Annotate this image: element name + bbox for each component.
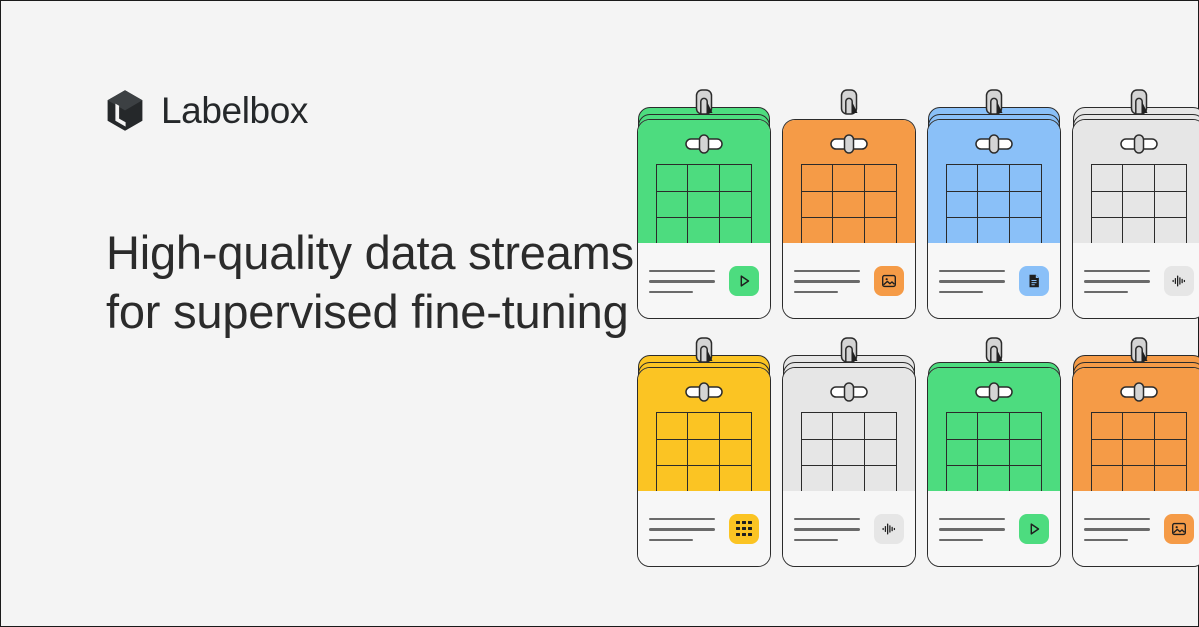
card-body xyxy=(1072,367,1199,567)
data-card-gray-audio[interactable] xyxy=(1072,89,1199,319)
card-text-lines xyxy=(1084,516,1164,541)
card-body xyxy=(927,119,1061,319)
card-slot-icon xyxy=(830,382,868,402)
data-card-grid xyxy=(637,89,1199,569)
page-canvas: Labelbox High-quality data streams for s… xyxy=(1,1,1198,626)
card-artwork xyxy=(638,368,770,491)
data-card-green-video-2[interactable] xyxy=(927,337,1061,567)
card-artwork xyxy=(928,368,1060,491)
card-text-lines xyxy=(794,516,874,541)
card-slot-icon xyxy=(975,134,1013,154)
card-slot-icon xyxy=(1120,382,1158,402)
card-grid-overlay xyxy=(801,412,897,494)
card-artwork xyxy=(1073,368,1199,491)
card-grid-overlay xyxy=(1091,412,1187,494)
card-clip-icon xyxy=(691,89,717,125)
dot-grid-icon[interactable] xyxy=(729,514,759,544)
data-card-orange-image-2[interactable] xyxy=(1072,337,1199,567)
card-body xyxy=(637,119,771,319)
card-clip-icon xyxy=(691,337,717,373)
card-text-lines xyxy=(939,268,1019,293)
card-artwork xyxy=(783,368,915,491)
card-slot-icon xyxy=(830,134,868,154)
card-clip-icon xyxy=(836,337,862,373)
card-clip-icon xyxy=(1126,337,1152,373)
card-body xyxy=(782,119,916,319)
brand-lockup: Labelbox xyxy=(106,89,308,132)
data-card-blue-document[interactable] xyxy=(927,89,1061,319)
card-artwork xyxy=(638,120,770,243)
card-body xyxy=(1072,119,1199,319)
page-title: High-quality data streams for supervised… xyxy=(106,223,666,341)
card-grid-overlay xyxy=(946,164,1042,246)
card-text-lines xyxy=(649,268,729,293)
card-body xyxy=(637,367,771,567)
play-icon[interactable] xyxy=(729,266,759,296)
card-text-lines xyxy=(939,516,1019,541)
card-artwork xyxy=(928,120,1060,243)
image-icon[interactable] xyxy=(874,266,904,296)
audio-waveform-icon[interactable] xyxy=(1164,266,1194,296)
data-card-yellow-dotgrid[interactable] xyxy=(637,337,771,567)
document-icon[interactable] xyxy=(1019,266,1049,296)
card-clip-icon xyxy=(981,89,1007,125)
card-meta xyxy=(1073,491,1199,566)
data-card-orange-image[interactable] xyxy=(782,89,916,319)
card-clip-icon xyxy=(1126,89,1152,125)
card-meta xyxy=(1073,243,1199,318)
labelbox-cube-icon xyxy=(106,89,144,132)
card-meta xyxy=(928,491,1060,566)
card-artwork xyxy=(1073,120,1199,243)
card-meta xyxy=(783,243,915,318)
card-grid-overlay xyxy=(801,164,897,246)
card-meta xyxy=(783,491,915,566)
card-meta xyxy=(928,243,1060,318)
card-meta xyxy=(638,491,770,566)
card-clip-icon xyxy=(981,337,1007,373)
data-card-green-video[interactable] xyxy=(637,89,771,319)
play-icon[interactable] xyxy=(1019,514,1049,544)
card-body xyxy=(927,367,1061,567)
audio-waveform-icon[interactable] xyxy=(874,514,904,544)
card-meta xyxy=(638,243,770,318)
card-slot-icon xyxy=(1120,134,1158,154)
card-text-lines xyxy=(649,516,729,541)
card-slot-icon xyxy=(975,382,1013,402)
card-slot-icon xyxy=(685,382,723,402)
card-grid-overlay xyxy=(656,412,752,494)
brand-name: Labelbox xyxy=(161,92,308,129)
card-clip-icon xyxy=(836,89,862,125)
card-grid-overlay xyxy=(946,412,1042,494)
card-grid-overlay xyxy=(1091,164,1187,246)
card-text-lines xyxy=(1084,268,1164,293)
card-text-lines xyxy=(794,268,874,293)
image-icon[interactable] xyxy=(1164,514,1194,544)
card-slot-icon xyxy=(685,134,723,154)
card-body xyxy=(782,367,916,567)
card-grid-overlay xyxy=(656,164,752,246)
data-card-gray-audio-2[interactable] xyxy=(782,337,916,567)
card-artwork xyxy=(783,120,915,243)
